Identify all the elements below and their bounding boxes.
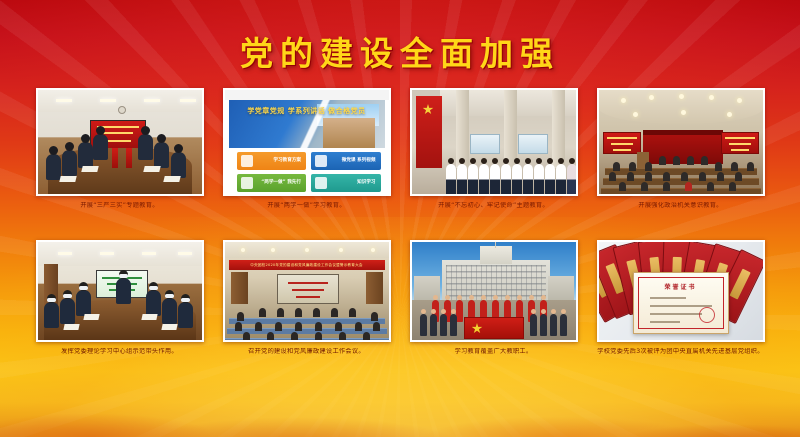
projection-screen	[277, 274, 339, 304]
door	[366, 272, 383, 304]
video-icon	[315, 155, 327, 167]
pillar	[552, 90, 565, 168]
photo-caption: 开展强化政治机关意识教育。	[597, 202, 765, 209]
central-tower	[480, 246, 512, 264]
stage-curtain	[643, 130, 723, 164]
photo-card-1[interactable]: 开展“三严三实”专题教育。	[36, 88, 204, 209]
wall-clock	[118, 106, 126, 114]
seated-person	[154, 142, 169, 168]
documents	[59, 176, 76, 182]
photo-caption: 学习教育覆盖广大教职工。	[410, 348, 578, 355]
photo-4-auditorium[interactable]	[597, 88, 765, 196]
tile-knowledge[interactable]: 知识学习	[311, 174, 381, 192]
page-title: 党的建设全面加强	[0, 27, 800, 75]
photo-card-4[interactable]: 开展强化政治机关意识教育。	[597, 88, 765, 209]
tile-label: “两学一做” 我先行	[261, 180, 301, 185]
door	[231, 272, 248, 304]
tile-label: 学习教育方案	[273, 158, 301, 163]
tile-study-plan[interactable]: 学习教育方案	[237, 152, 307, 170]
table-flag	[126, 148, 132, 168]
party-flag-panel	[416, 96, 442, 168]
photo-5-study-group-meeting[interactable]	[36, 240, 204, 342]
photo-caption: 开展“两学一做”学习教育。	[223, 202, 391, 209]
ceiling-light	[100, 99, 116, 102]
photo-caption: 开展“三严三实”专题教育。	[36, 202, 204, 209]
photo-caption: 发挥党委理论学习中心组示范带头作用。	[36, 348, 204, 355]
site-tile-grid: 学习教育方案 微党课 系列视频 “两学一做” 我先行 知识学习	[237, 152, 381, 192]
photo-card-2[interactable]: 学党章党规 学系列讲话 做合格党员 学习教育方案 微党课 系列视频 “两学一做”…	[223, 88, 391, 209]
photo-card-6[interactable]: 中央团校2020年党的建设和党风廉政建设工作会议暨警示教育大会	[223, 240, 391, 355]
official-seal	[699, 307, 715, 323]
exhibit-panel	[518, 134, 548, 154]
tile-micro-lecture[interactable]: 微党课 系列视频	[311, 152, 381, 170]
seated-person	[93, 134, 108, 160]
seated-person	[171, 152, 186, 178]
browser-top-bar	[225, 90, 389, 100]
tile-practice[interactable]: “两学一做” 我先行	[237, 174, 307, 192]
ceiling-light	[56, 99, 72, 102]
map-icon	[241, 177, 253, 189]
photo-card-7[interactable]: 学习教育覆盖广大教职工。	[410, 240, 578, 355]
photo-6-party-building-conference[interactable]: 中央团校2020年党的建设和党风廉政建设工作会议暨警示教育大会	[223, 240, 391, 342]
photo-3-oath-ceremony[interactable]	[410, 88, 578, 196]
tile-label: 微党课 系列视频	[342, 158, 376, 163]
books-icon	[315, 177, 327, 189]
documents	[143, 166, 160, 172]
table-flag	[112, 148, 118, 168]
conference-banner-text: 中央团校2020年党的建设和党风廉政建设工作会议暨警示教育大会	[250, 263, 362, 268]
seated-person	[138, 134, 153, 160]
photo-card-3[interactable]: 开展“不忘初心、牢记使命”主题教育。	[410, 88, 578, 209]
photo-row-top: 开展“三严三实”专题教育。 学党章党规 学系列讲话 做合格党员 学习教育方案	[0, 88, 800, 209]
seated-person	[46, 154, 61, 180]
documents	[81, 166, 98, 172]
tile-label: 知识学习	[357, 180, 375, 185]
photo-row-bottom: 发挥党委理论学习中心组示范带头作用。 中央团校2020年党的建设和党风廉政建设工…	[0, 240, 800, 355]
ceiling-light	[180, 99, 196, 102]
seated-person	[62, 150, 77, 176]
photo-card-8[interactable]: 荣誉证书 学校党委先后3次被评为团中央直属机关先进基层党组织。	[597, 240, 765, 355]
side-banner-left	[603, 132, 641, 154]
photo-caption: 学校党委先后3次被评为团中央直属机关先进基层党组织。	[597, 348, 765, 355]
photo-8-honor-certificates[interactable]: 荣誉证书	[597, 240, 765, 342]
side-banner-right	[721, 132, 759, 154]
open-certificate: 荣誉证书	[633, 272, 729, 334]
photo-caption: 召开党的建设和党风廉政建设工作会议。	[223, 348, 391, 355]
poster-banner: 党的建设全面加强	[0, 0, 800, 437]
exhibit-panel	[470, 134, 500, 154]
pillar	[504, 90, 517, 168]
photo-1-meeting-room[interactable]	[36, 88, 204, 196]
seated-person	[78, 142, 93, 168]
ceiling-light	[144, 99, 160, 102]
pillar	[456, 90, 469, 168]
photo-caption: 开展“不忘初心、牢记使命”主题教育。	[410, 202, 578, 209]
certificate-title: 荣誉证书	[634, 282, 728, 291]
party-flag-banner	[464, 317, 524, 339]
photo-card-5[interactable]: 发挥党委理论学习中心组示范带头作用。	[36, 240, 204, 355]
site-headline: 学党章党规 学系列讲话 做合格党员	[225, 106, 389, 116]
photo-2-website-screenshot[interactable]: 学党章党规 学系列讲话 做合格党员 学习教育方案 微党课 系列视频 “两学一做”…	[223, 88, 391, 196]
documents	[163, 176, 180, 182]
book-icon	[241, 155, 253, 167]
crowd	[442, 158, 576, 194]
flag-pole	[495, 240, 497, 248]
conference-banner: 中央团校2020年党的建设和党风廉政建设工作会议暨警示教育大会	[229, 260, 385, 270]
photo-7-group-photo[interactable]	[410, 240, 578, 342]
